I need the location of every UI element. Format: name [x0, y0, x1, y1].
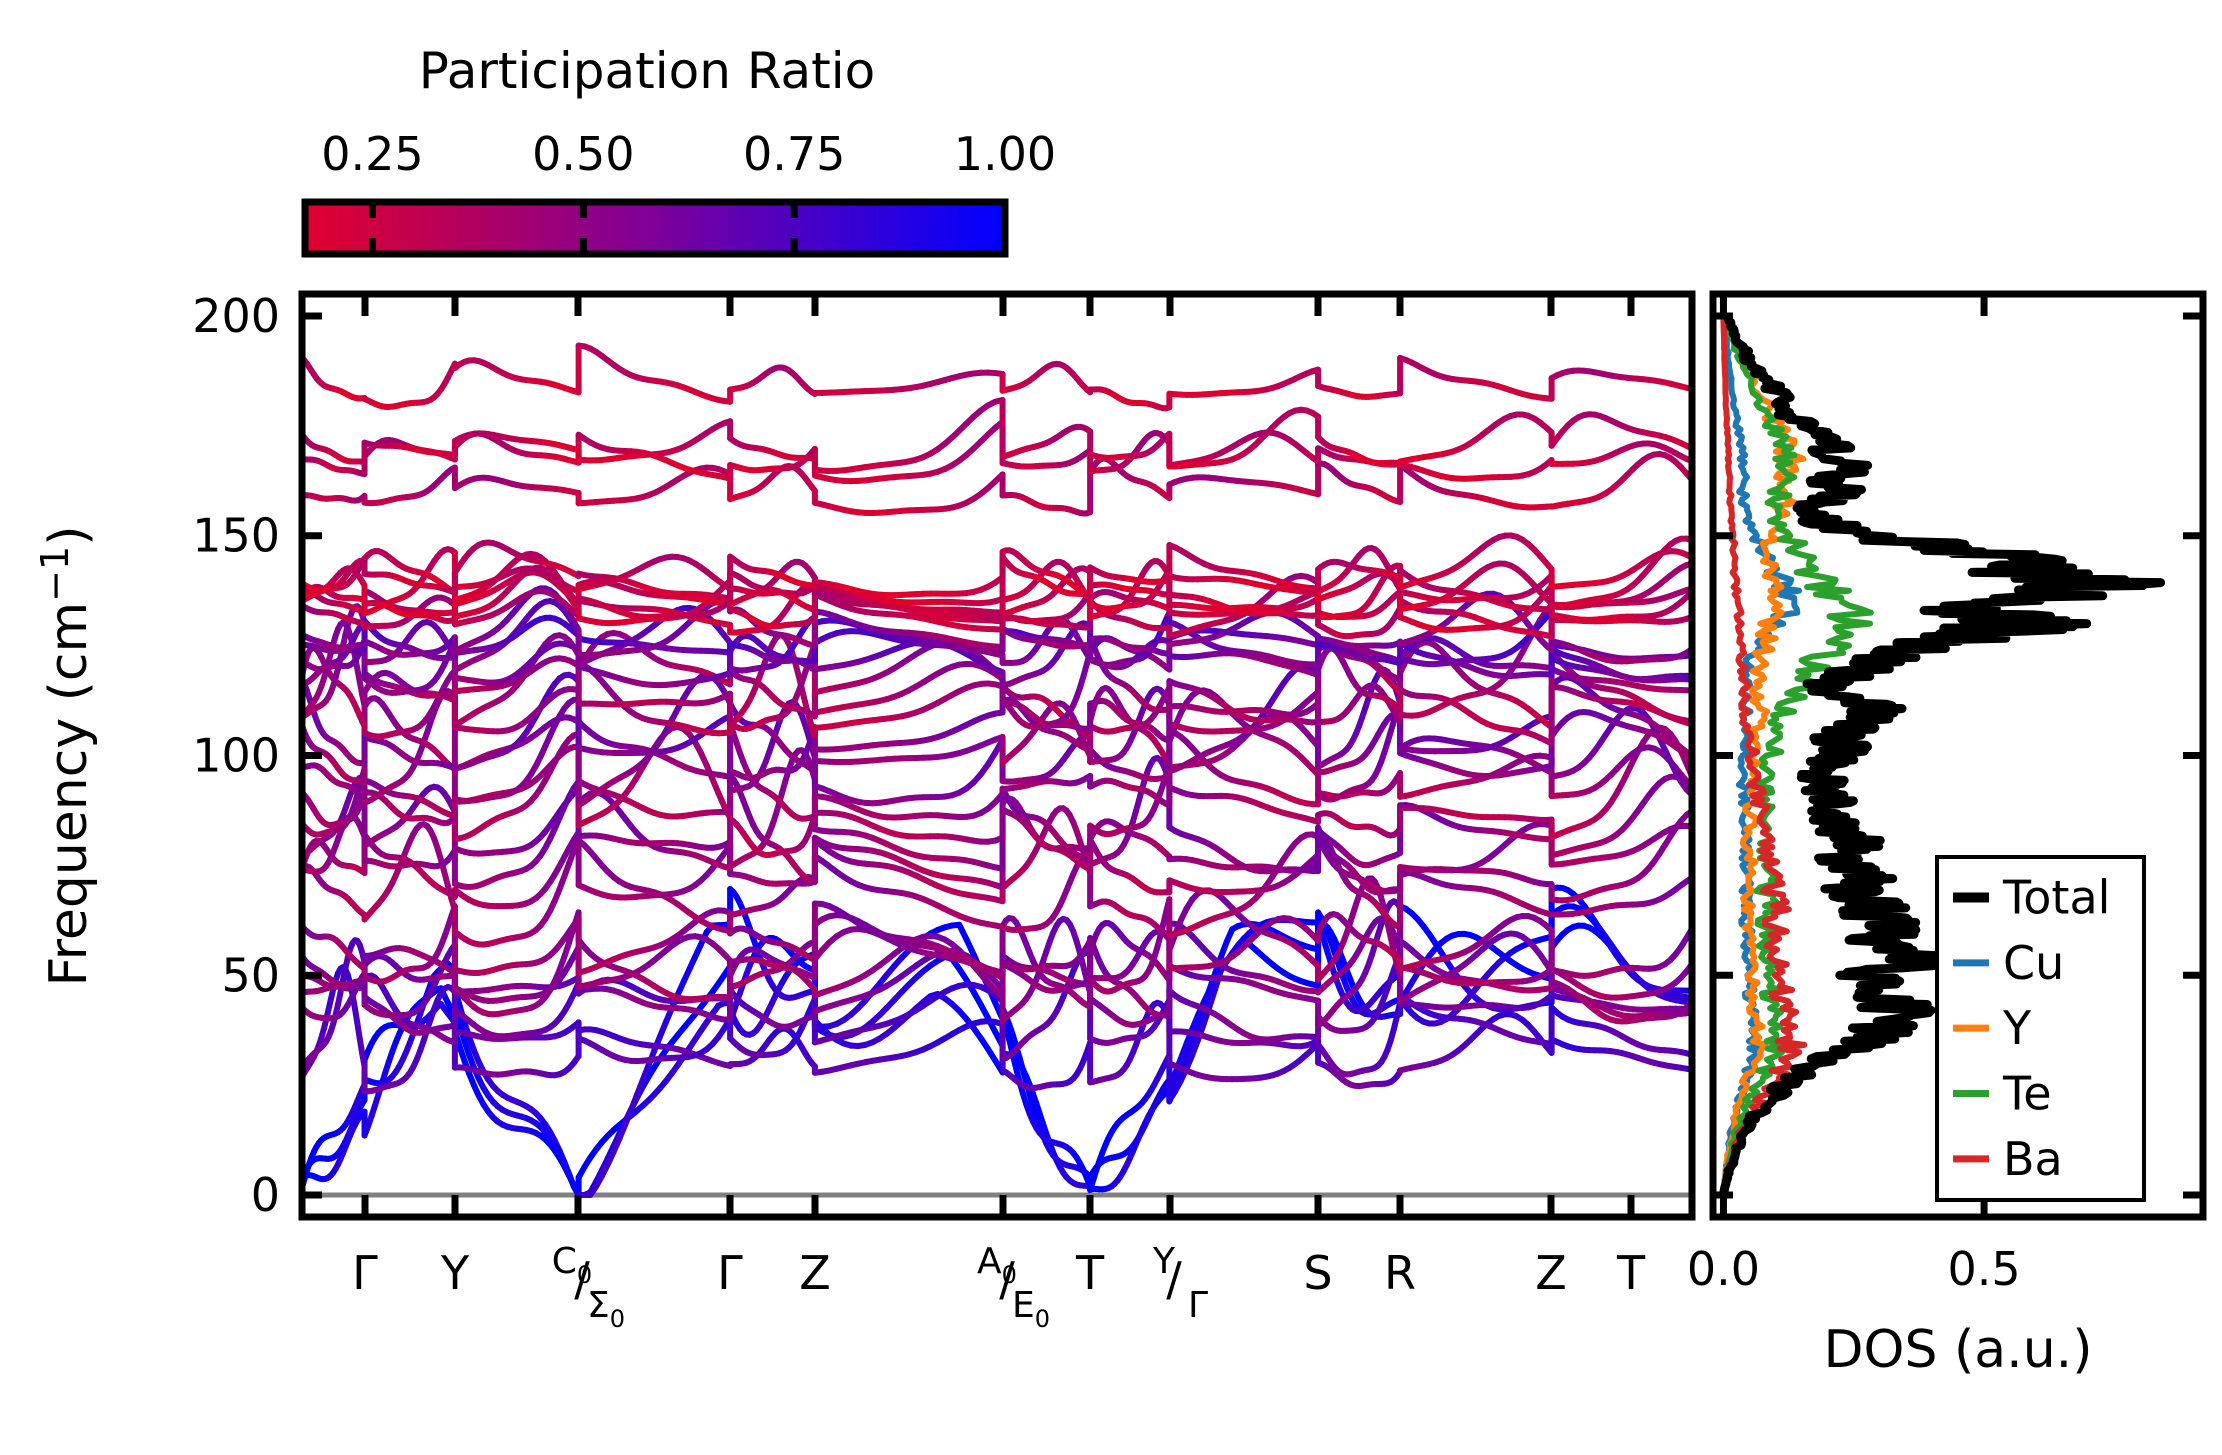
- bands-panel: 050100150200 ΓYC0/Σ0ΓZA0/E0TY/ΓSRZT Freq…: [33, 289, 1692, 1333]
- colorbar-tick-label: 0.50: [532, 127, 634, 181]
- colorbar-tick-label: 1.00: [954, 127, 1056, 181]
- phonon-band-curves: [302, 346, 1692, 1195]
- colorbar-tick-labels: 0.250.500.751.00: [321, 127, 1056, 181]
- colorbar-group: Participation Ratio 0.250.500.751.00: [305, 42, 1056, 254]
- phonon-figure-svg: Participation Ratio 0.250.500.751.00 050…: [0, 0, 2222, 1455]
- colorbar-title: Participation Ratio: [419, 42, 875, 100]
- colorbar-gradient: [305, 202, 1005, 254]
- colorbar-tick-label: 0.25: [321, 127, 423, 181]
- figure-root: Participation Ratio 0.250.500.751.00 050…: [0, 0, 2222, 1455]
- colorbar-tick-label: 0.75: [743, 127, 845, 181]
